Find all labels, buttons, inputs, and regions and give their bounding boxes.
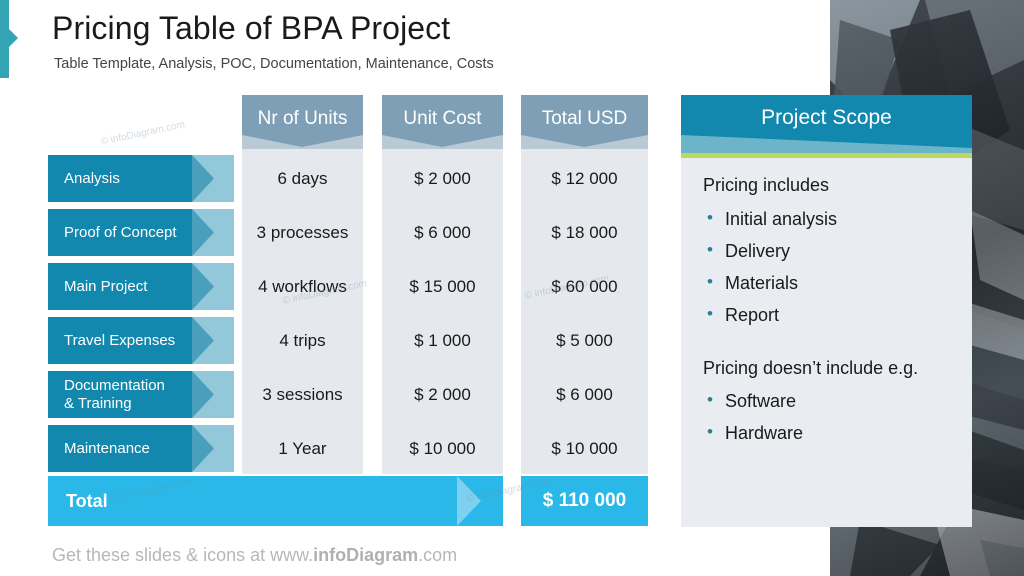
- row-label-maintenance[interactable]: Maintenance: [48, 425, 234, 472]
- slide-root: Pricing Table of BPA Project Table Templ…: [0, 0, 1024, 576]
- list-item: Initial analysis: [703, 203, 952, 235]
- title-accent-arrow-icon: [9, 29, 18, 47]
- list-item: Delivery: [703, 235, 952, 267]
- table-cell-total: $ 18 000: [521, 209, 648, 256]
- table-cell-units: 6 days: [242, 155, 363, 202]
- footer-brand: infoDiagram: [313, 545, 418, 565]
- row-label-text: Travel Expenses: [64, 332, 175, 350]
- list-item: Report: [703, 299, 952, 331]
- scope-notch-icon: [681, 135, 972, 153]
- row-label-text: Proof of Concept: [64, 224, 177, 242]
- total-row-label: Total: [66, 476, 108, 526]
- column-header-unit-cost: Unit Cost: [382, 95, 503, 149]
- list-item: Hardware: [703, 417, 952, 449]
- header-notch-icon: [521, 127, 648, 149]
- total-row-bar: Total: [48, 476, 503, 526]
- row-chevron-icon: [192, 317, 234, 364]
- scope-excludes-heading: Pricing doesn’t include e.g.: [703, 357, 952, 380]
- footer-link[interactable]: Get these slides & icons at www.infoDiag…: [52, 545, 457, 566]
- title-accent-bar: [0, 0, 9, 78]
- scope-content: Pricing includes Initial analysis Delive…: [681, 158, 972, 449]
- total-row-value: $ 110 000: [521, 476, 648, 526]
- row-label-analysis[interactable]: Analysis: [48, 155, 234, 202]
- row-label-travel-expenses[interactable]: Travel Expenses: [48, 317, 234, 364]
- table-cell-total: $ 5 000: [521, 317, 648, 364]
- scope-title: Project Scope: [681, 106, 972, 130]
- scope-header: Project Scope: [681, 95, 972, 153]
- project-scope-panel: Project Scope Pricing includes Initial a…: [681, 95, 972, 527]
- scope-spacer: [703, 331, 952, 357]
- row-chevron-icon: [192, 263, 234, 310]
- table-cell-total: $ 60 000: [521, 263, 648, 310]
- list-item: Materials: [703, 267, 952, 299]
- list-item: Software: [703, 385, 952, 417]
- row-label-main-project[interactable]: Main Project: [48, 263, 234, 310]
- table-cell-total: $ 10 000: [521, 425, 648, 472]
- total-chevron-icon: [457, 476, 503, 526]
- row-label-text: Documentation & Training: [64, 377, 165, 413]
- footer-suffix: .com: [418, 545, 457, 565]
- table-cell-unit-cost: $ 10 000: [382, 425, 503, 472]
- page-subtitle: Table Template, Analysis, POC, Documenta…: [54, 56, 494, 72]
- row-chevron-icon: [192, 155, 234, 202]
- table-cell-units: 3 sessions: [242, 371, 363, 418]
- watermark: © infoDiagram.com: [100, 119, 186, 148]
- scope-includes-heading: Pricing includes: [703, 174, 952, 197]
- row-chevron-icon: [192, 371, 234, 418]
- column-header-units: Nr of Units: [242, 95, 363, 149]
- header-notch-icon: [242, 127, 363, 149]
- column-header-total: Total USD: [521, 95, 648, 149]
- footer-prefix: Get these slides & icons at www.: [52, 545, 313, 565]
- scope-includes-list: Initial analysis Delivery Materials Repo…: [703, 203, 952, 331]
- table-cell-total: $ 12 000: [521, 155, 648, 202]
- page-title: Pricing Table of BPA Project: [52, 10, 450, 47]
- row-label-documentation-training[interactable]: Documentation & Training: [48, 371, 234, 418]
- table-cell-total: $ 6 000: [521, 371, 648, 418]
- row-label-text: Main Project: [64, 278, 147, 296]
- table-cell-units: 4 workflows: [242, 263, 363, 310]
- table-cell-units: 1 Year: [242, 425, 363, 472]
- table-cell-units: 3 processes: [242, 209, 363, 256]
- row-chevron-icon: [192, 425, 234, 472]
- table-cell-unit-cost: $ 2 000: [382, 155, 503, 202]
- row-chevron-icon: [192, 209, 234, 256]
- table-cell-unit-cost: $ 6 000: [382, 209, 503, 256]
- table-cell-units: 4 trips: [242, 317, 363, 364]
- row-label-text: Analysis: [64, 170, 120, 188]
- header-notch-icon: [382, 127, 503, 149]
- table-cell-unit-cost: $ 15 000: [382, 263, 503, 310]
- row-label-text: Maintenance: [64, 440, 150, 458]
- row-label-proof-of-concept[interactable]: Proof of Concept: [48, 209, 234, 256]
- scope-excludes-list: Software Hardware: [703, 385, 952, 449]
- table-cell-unit-cost: $ 2 000: [382, 371, 503, 418]
- table-cell-unit-cost: $ 1 000: [382, 317, 503, 364]
